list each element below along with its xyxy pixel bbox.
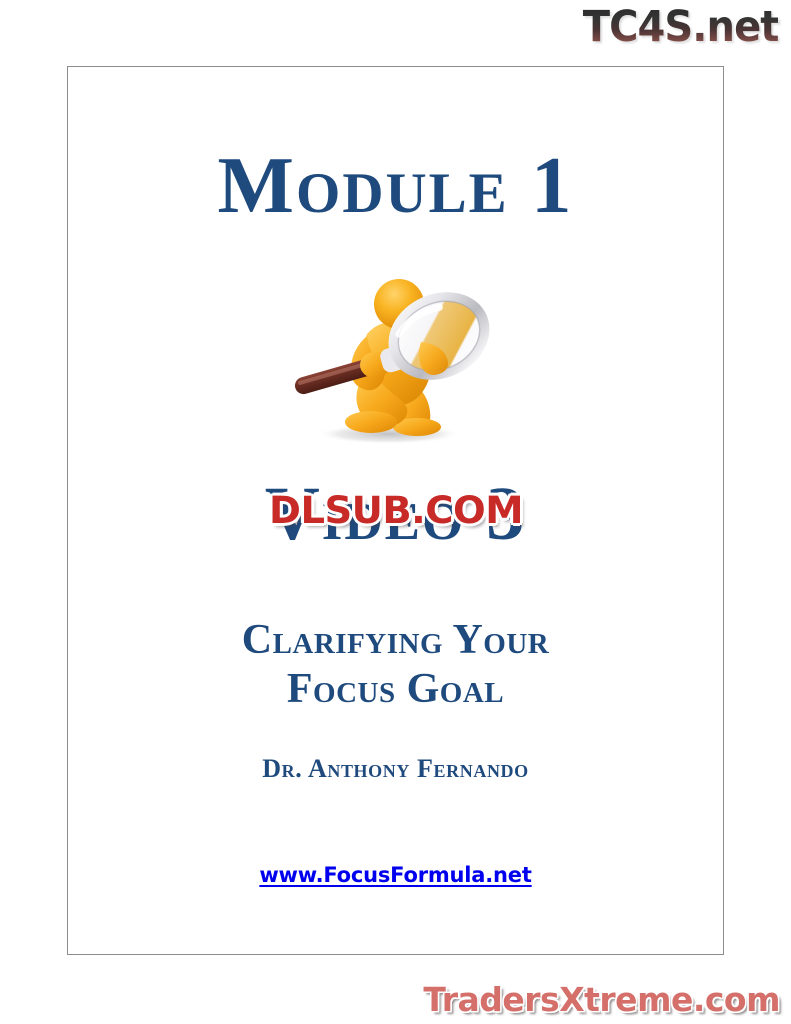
tradersxtreme-watermark: TradersXtreme.com [423, 983, 780, 1016]
subtitle-line-2: Focus Goal [68, 665, 723, 714]
document-page: Module 1 [67, 66, 724, 955]
subtitle: Clarifying Your Focus Goal [68, 616, 723, 713]
video-label: Video 3 [265, 476, 526, 552]
tc4s-watermark: TC4S.net [582, 6, 778, 49]
video-block: Video 3 DLSUB.COM [68, 476, 723, 566]
website-link[interactable]: www.FocusFormula.net [259, 863, 531, 887]
website-link-wrapper: www.FocusFormula.net [68, 863, 723, 887]
title-block: Module 1 [68, 145, 723, 226]
subtitle-line-1: Clarifying Your [68, 616, 723, 665]
page-title: Module 1 [68, 145, 723, 226]
author-name: Dr. Anthony Fernando [68, 754, 723, 784]
magnifying-glass-illustration [271, 272, 521, 447]
